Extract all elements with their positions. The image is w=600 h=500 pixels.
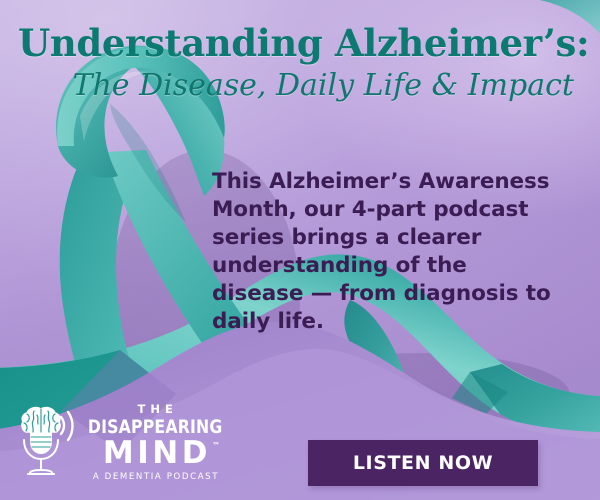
body-copy: This Alzheimer’s Awareness Month, our 4-… [212,168,564,336]
alzheimers-awareness-banner-ad: Understanding Alzheimer’s: The Disease, … [0,0,600,500]
logo-tagline: A DEMENTIA PODCAST [91,473,219,482]
podcast-logo[interactable]: THE DISAPPEARING MIND™ A DEMENTIA PODCAS… [14,398,204,484]
logo-line-mind-text: MIND [103,435,211,471]
brain-microphone-icon [14,401,76,481]
logo-line-mind: MIND™ [99,438,211,469]
logo-line-the: THE [132,404,177,416]
headline-block: Understanding Alzheimer’s: The Disease, … [0,24,600,103]
trademark-symbol: ™ [208,442,220,450]
listen-now-button[interactable]: LISTEN NOW [308,440,538,486]
page-subtitle: The Disease, Daily Life & Impact [18,69,582,103]
page-title: Understanding Alzheimer’s: [18,24,582,63]
logo-wordmark: THE DISAPPEARING MIND™ A DEMENTIA PODCAS… [82,400,228,481]
